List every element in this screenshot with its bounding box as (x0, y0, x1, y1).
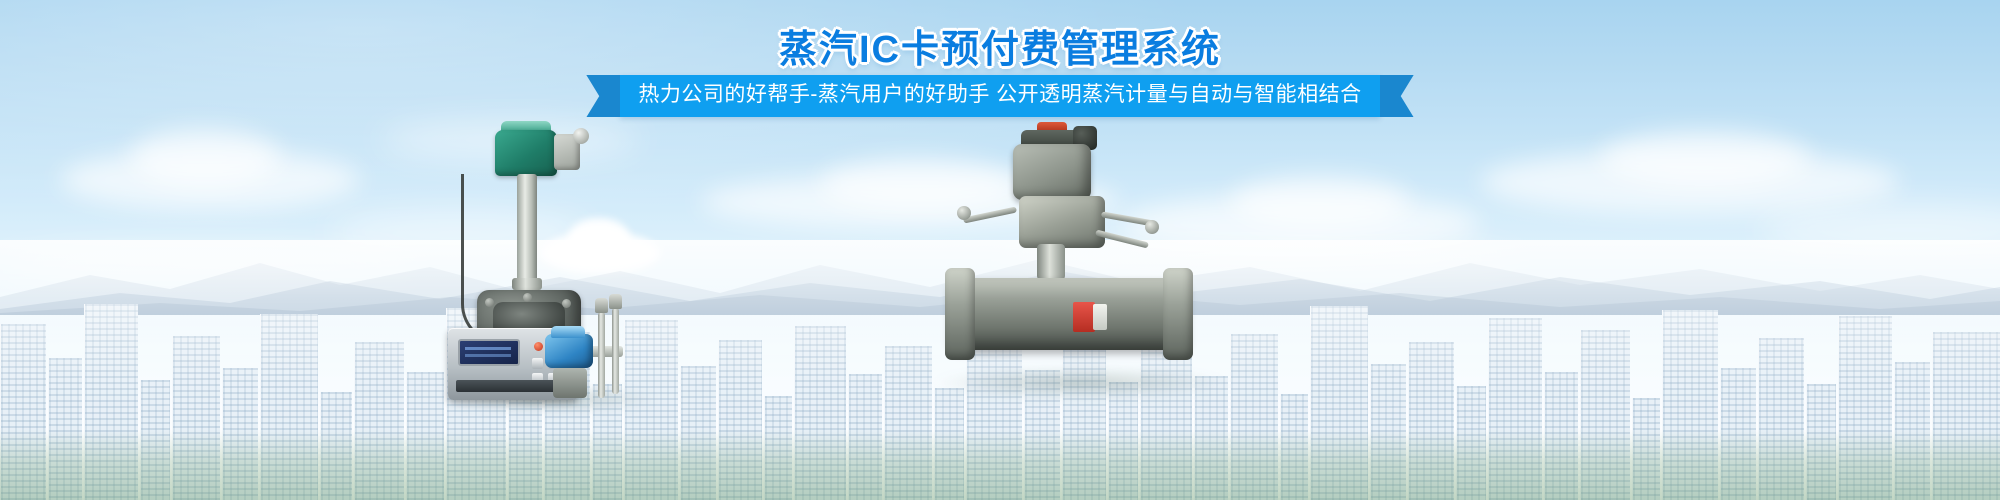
transmitter-base (553, 368, 587, 398)
valve-tag-red (1073, 302, 1095, 332)
status-led-icon (534, 342, 543, 351)
subtitle-text: 热力公司的好帮手-蒸汽用户的好助手 公开透明蒸汽计量与自动与智能相结合 (620, 75, 1379, 117)
valve-flange (1163, 268, 1193, 360)
valve-stem (1037, 244, 1065, 280)
hero-banner: 蒸汽IC卡预付费管理系统 热力公司的好帮手-蒸汽用户的好助手 公开透明蒸汽计量与… (0, 0, 2000, 500)
probe-rod (598, 312, 605, 398)
valve-flange (945, 268, 975, 360)
valve-positioner (1019, 196, 1105, 248)
transmitter-cap-icon (551, 326, 585, 338)
valve-knob-icon (1145, 220, 1159, 234)
probe-tip-icon (595, 298, 608, 313)
transmitter-head (545, 334, 593, 368)
cloud-icon (1600, 130, 1810, 186)
green-belt (0, 430, 2000, 500)
cloud-icon (130, 128, 280, 186)
page-title: 蒸汽IC卡预付费管理系统 (779, 18, 1221, 73)
controller-button (532, 358, 543, 369)
probe-tip-icon (609, 294, 622, 309)
valve-arm (963, 206, 1017, 223)
valve-knob-icon (957, 206, 971, 220)
temperature-probe (596, 298, 626, 398)
probe-rod (612, 308, 619, 394)
ribbon-tail-left-icon (586, 75, 620, 117)
actuated-valve (945, 120, 1205, 385)
valve-tag-white (1093, 304, 1107, 330)
meter-collar (512, 278, 542, 290)
controller-display (458, 339, 520, 366)
ribbon-tail-right-icon (1380, 75, 1414, 117)
page-title-container: 蒸汽IC卡预付费管理系统 (0, 18, 2000, 73)
subtitle-ribbon-container: 热力公司的好帮手-蒸汽用户的好助手 公开透明蒸汽计量与自动与智能相结合 (0, 75, 2000, 117)
subtitle-ribbon: 热力公司的好帮手-蒸汽用户的好助手 公开透明蒸汽计量与自动与智能相结合 (586, 75, 1413, 117)
meter-head (495, 130, 557, 176)
valve-pipe-body (949, 278, 1189, 350)
meter-knob-icon (573, 128, 589, 144)
valve-actuator (1013, 144, 1091, 200)
